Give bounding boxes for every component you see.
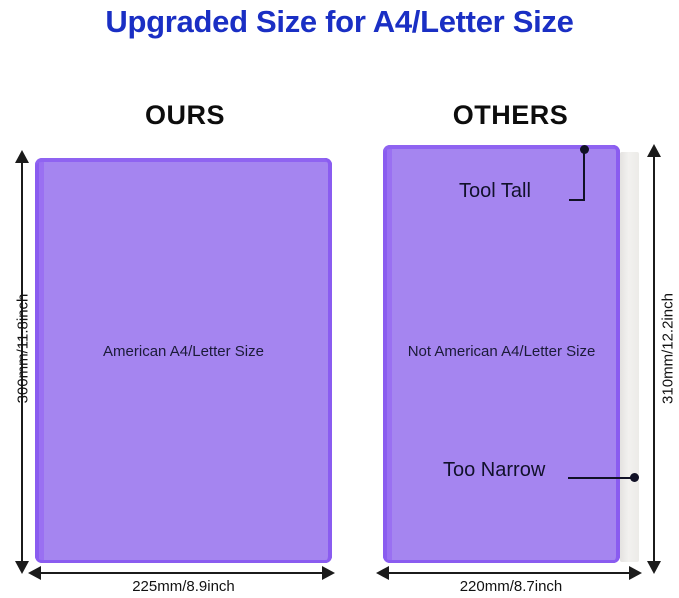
dimension-line-others-width (383, 572, 639, 574)
sleeve-caption-others: Not American A4/Letter Size (383, 343, 620, 360)
page-title: Upgraded Size for A4/Letter Size (0, 4, 679, 40)
arrowhead-up-icon (15, 150, 29, 163)
excess-material-flap (620, 152, 639, 562)
dimension-label-ours-width: 225mm/8.9inch (35, 578, 332, 595)
callout-leader-line-too-narrow (568, 477, 635, 479)
dimension-label-others-width: 220mm/8.7inch (383, 578, 639, 595)
dimension-label-others-height: 310mm/12.2inch (660, 274, 677, 424)
arrowhead-up-icon (647, 144, 661, 157)
product-sleeve-ours (35, 158, 332, 563)
sleeve-inner-face-ours (44, 166, 326, 557)
callout-label-too-narrow: Too Narrow (443, 459, 545, 482)
dimension-line-others-height (653, 152, 655, 570)
callout-dot-too-narrow (630, 473, 639, 482)
callout-label-tool-tall: Tool Tall (459, 180, 531, 203)
arrowhead-down-icon (647, 561, 661, 574)
infographic-canvas: Upgraded Size for A4/Letter Size OURS OT… (0, 0, 679, 598)
dimension-line-ours-width (35, 572, 332, 574)
column-heading-others: OTHERS (428, 100, 593, 131)
dimension-label-ours-height: 300mm/11.8inch (15, 274, 32, 424)
callout-dot-tool-tall (580, 145, 589, 154)
column-heading-ours: OURS (105, 100, 265, 131)
arrowhead-down-icon (15, 561, 29, 574)
sleeve-caption-ours: American A4/Letter Size (35, 343, 332, 360)
callout-leader-line-tool-tall-vertical (583, 150, 585, 201)
